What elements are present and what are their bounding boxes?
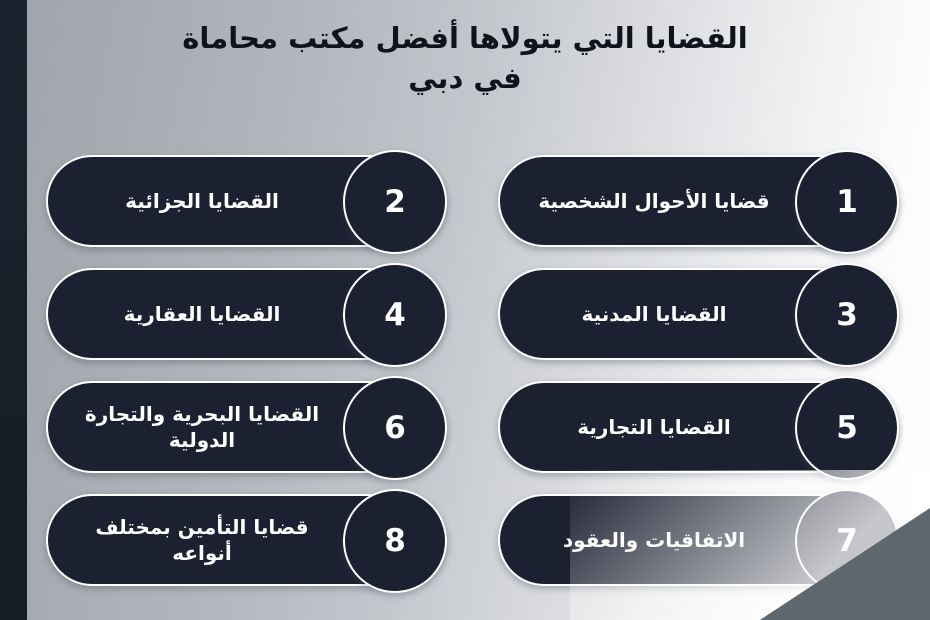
page-title-line-1: القضايا التي يتولاها أفضل مكتب محاماة bbox=[60, 18, 870, 58]
list-item[interactable]: القضايا الجزائية 2 bbox=[46, 155, 446, 247]
list-item[interactable]: قضايا الأحوال الشخصية 1 bbox=[498, 155, 898, 247]
list-item-number-badge: 6 bbox=[343, 376, 447, 480]
list-item[interactable]: قضايا التأمين بمختلف أنواعه 8 bbox=[46, 494, 446, 586]
left-accent-band bbox=[0, 0, 27, 620]
list-item-number-badge: 2 bbox=[343, 150, 447, 254]
list-item[interactable]: القضايا العقارية 4 bbox=[46, 268, 446, 360]
list-item[interactable]: القضايا المدنية 3 bbox=[498, 268, 898, 360]
page-title-line-2: في دبي bbox=[60, 58, 870, 98]
list-item-number-badge: 5 bbox=[795, 376, 899, 480]
list-item[interactable]: القضايا البحرية والتجارة الدولية 6 bbox=[46, 381, 446, 473]
list-item[interactable]: القضايا التجارية 5 bbox=[498, 381, 898, 473]
list-item-number-badge: 8 bbox=[343, 489, 447, 593]
infographic-canvas: القضايا التي يتولاها أفضل مكتب محاماة في… bbox=[0, 0, 930, 620]
page-title: القضايا التي يتولاها أفضل مكتب محاماة في… bbox=[60, 18, 870, 98]
list-item-number-badge: 3 bbox=[795, 263, 899, 367]
items-grid: قضايا الأحوال الشخصية 1 القضايا الجزائية… bbox=[46, 155, 898, 593]
list-item-number-badge: 4 bbox=[343, 263, 447, 367]
list-item-number-badge: 1 bbox=[795, 150, 899, 254]
